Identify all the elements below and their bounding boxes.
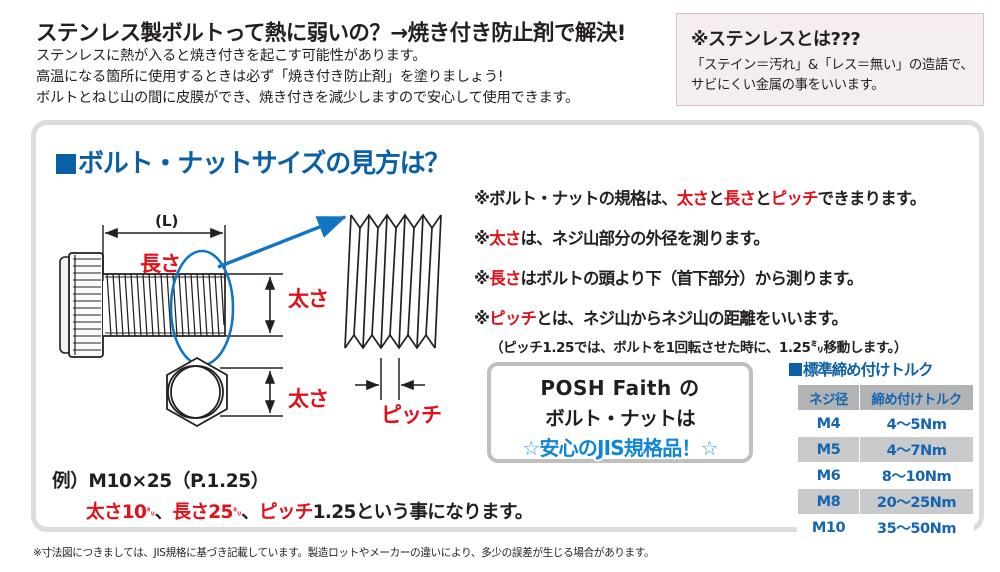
column-header-torque: 締め付けトルク [860, 385, 974, 411]
cell-screw-size: M6 [798, 463, 860, 489]
intro-line: ボルトとねじ山の間に皮膜ができ、焼き付きを減少しますので安心して使用できます。 [36, 88, 676, 109]
example-code: 例）M10×25（P.1.25） [52, 466, 533, 493]
torque-table-section: 標準締め付けトルク ネジ径 締め付けトルク M4 4～5Nm M5 4～7Nm … [789, 358, 985, 541]
table-row: M6 8～10Nm [798, 463, 974, 489]
cell-torque: 4～7Nm [860, 437, 974, 463]
column-header-screw-size: ネジ径 [798, 385, 860, 411]
pitch-dimension-line [355, 358, 425, 400]
length-label: 長さ [140, 248, 180, 278]
torque-table-title-label: 標準締め付けトルク [803, 361, 933, 379]
spec-bullet: ※ボルト・ナットの規格は、太さと長さとピッチできまります。 [474, 185, 984, 209]
cell-torque: 8～10Nm [860, 463, 974, 489]
bolt-shaft-icon [103, 274, 225, 336]
thread-magnified-icon [345, 215, 441, 348]
intro-paragraph: ステンレスに熱が入ると焼き付きを起こす可能性があります。 高温になる箇所に使用す… [36, 46, 676, 109]
cell-screw-size: M5 [798, 437, 860, 463]
bolt-thickness-label: 太さ [288, 283, 328, 313]
cell-torque: 4～5Nm [860, 411, 974, 437]
stainless-definition-box: ※ステンレスとは??? 「ステイン＝汚れ」&「レス＝無い」の造語で、 サビにくい… [676, 13, 984, 106]
intro-line: 高温になる箇所に使用するときは必ず「焼き付き防止剤」を塗りましょう! [36, 67, 676, 88]
stainless-definition-line: 「ステイン＝汚れ」&「レス＝無い」の造語で、 [691, 56, 983, 76]
spec-bullet: ※太さは、ネジ山部分の外径を測ります。 [474, 225, 984, 249]
posh-brand-line: POSH Faith の [491, 372, 749, 401]
bolt-head-icon [60, 253, 103, 357]
torque-table-body: M4 4～5Nm M5 4～7Nm M6 8～10Nm M8 20～25Nm M… [798, 411, 974, 541]
callout-arrow-icon [218, 217, 345, 267]
nut-thickness-label: 太さ [288, 383, 328, 413]
stainless-definition-title: ※ステンレスとは??? [691, 25, 983, 51]
page-headline: ステンレス製ボルトって熱に弱いの？→焼き付き防止剤で解決! [36, 16, 656, 47]
star-icon-right: ☆ [701, 436, 718, 460]
blue-square-bullet-icon [56, 154, 76, 174]
torque-table: ネジ径 締め付けトルク M4 4～5Nm M5 4～7Nm M6 8～10Nm … [797, 384, 974, 541]
blue-square-bullet-icon [789, 363, 802, 376]
cell-torque: 20～25Nm [860, 489, 974, 515]
example-section: 例）M10×25（P.1.25） 太さ10㍉、長さ25㍉、ピッチ1.25という事… [52, 466, 533, 524]
star-icon-left: ☆ [522, 436, 539, 460]
cell-screw-size: M4 [798, 411, 860, 437]
hex-nut-icon [167, 358, 227, 426]
spec-bullet: ※長さはボルトの頭より下（首下部分）から測ります。 [474, 265, 984, 289]
intro-line: ステンレスに熱が入ると焼き付きを起こす可能性があります。 [36, 46, 676, 67]
posh-faith-jis-box: POSH Faith の ボルト・ナットは ☆安心のJIS規格品！☆ [487, 362, 753, 463]
table-header-row: ネジ径 締め付けトルク [798, 385, 974, 411]
cell-screw-size: M8 [798, 489, 860, 515]
posh-jis-line: ☆安心のJIS規格品！☆ [491, 432, 749, 461]
section-title: ボルト・ナットサイズの見方は？ [56, 143, 449, 180]
section-title-label: ボルト・ナットサイズの見方は？ [78, 149, 449, 179]
table-row: M4 4～5Nm [798, 411, 974, 437]
table-row: M10 35～50Nm [798, 515, 974, 541]
posh-product-line: ボルト・ナットは [491, 402, 749, 431]
pitch-label: ピッチ [381, 399, 441, 429]
torque-table-title: 標準締め付けトルク [789, 358, 985, 380]
stainless-definition-body: 「ステイン＝汚れ」&「レス＝無い」の造語で、 サビにくい金属の事をいいます。 [691, 56, 983, 95]
cell-torque: 35～50Nm [860, 515, 974, 541]
cell-screw-size: M10 [798, 515, 860, 541]
posh-jis-label: 安心のJIS規格品！ [539, 436, 700, 460]
length-code-label: (L) [155, 212, 178, 230]
spec-bullet-list: ※ボルト・ナットの規格は、太さと長さとピッチできまります。 ※太さは、ネジ山部分… [474, 185, 984, 356]
table-row: M8 20～25Nm [798, 489, 974, 515]
example-explanation: 太さ10㍉、長さ25㍉、ピッチ1.25という事になります。 [86, 497, 533, 524]
footer-disclaimer: ※寸法図につきましては、JIS規格に基づき記載しています。製造ロットやメーカーの… [33, 545, 753, 560]
table-row: M5 4～7Nm [798, 437, 974, 463]
spec-bullet: ※ピッチとは、ネジ山からネジ山の距離をいいます。 [474, 305, 984, 329]
pitch-explanation-note: （ピッチ1.25では、ボルトを1回転させた時に、1.25㍉移動します。） [490, 336, 984, 356]
stainless-definition-line: サビにくい金属の事をいいます。 [691, 76, 983, 96]
